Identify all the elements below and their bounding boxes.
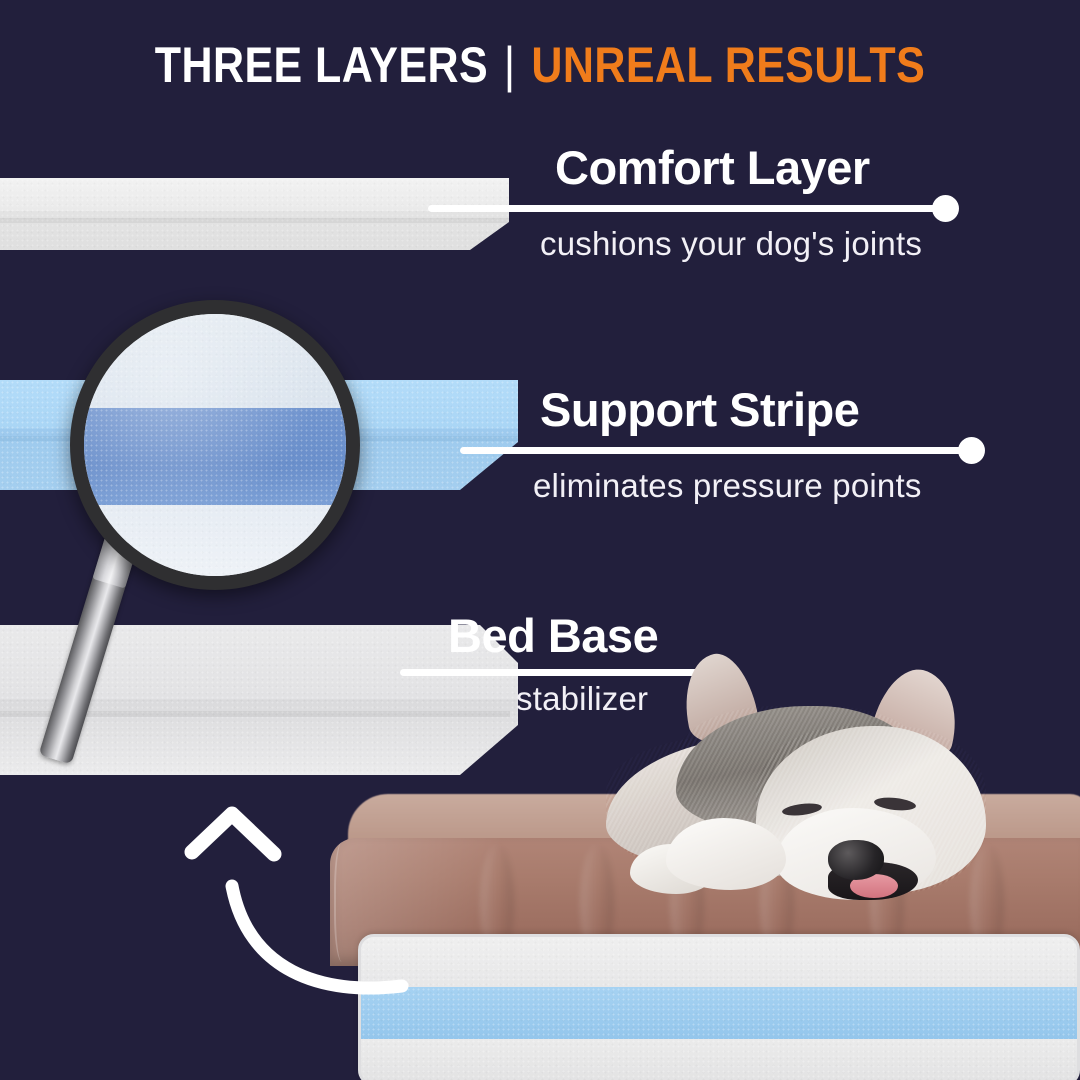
comfort-layer-edge [0, 218, 509, 223]
comfort-layer-body [0, 178, 520, 256]
magnifier-ring [70, 300, 360, 590]
cutaway-bed-base [361, 1039, 1077, 1080]
foam-texture [361, 1039, 1077, 1080]
foam-slab-comfort-layer [0, 178, 520, 256]
cutaway-comfort-layer [361, 937, 1077, 987]
leader-line-support-stripe [460, 447, 974, 454]
curved-up-arrow [170, 790, 410, 1010]
infographic-canvas: THREE LAYERS | UNREAL RESULTS Comfort La… [0, 0, 1080, 1080]
foam-texture [0, 178, 520, 256]
headline-part-two: UNREAL RESULTS [531, 37, 925, 93]
leader-dot-support-stripe [958, 437, 985, 464]
callout-title-comfort-layer: Comfort Layer [555, 140, 870, 195]
callout-subtitle-comfort-layer: cushions your dog's joints [540, 225, 922, 263]
sleeping-husky-dog [606, 648, 1026, 904]
callout-subtitle-support-stripe: eliminates pressure points [533, 467, 922, 505]
dog-nose [828, 840, 884, 880]
three-layer-foam-cutaway [358, 934, 1080, 1080]
foam-texture [361, 987, 1077, 1040]
leader-dot-comfort-layer [932, 195, 959, 222]
foam-texture [361, 937, 1077, 987]
magnifier-lens [84, 314, 346, 576]
cutaway-support-stripe [361, 987, 1077, 1040]
page-title: THREE LAYERS | UNREAL RESULTS [76, 36, 1005, 94]
headline-divider: | [500, 37, 518, 93]
lens-glare [84, 314, 346, 576]
callout-title-support-stripe: Support Stripe [540, 382, 859, 437]
headline-part-one: THREE LAYERS [155, 37, 488, 93]
leader-line-comfort-layer [428, 205, 948, 212]
